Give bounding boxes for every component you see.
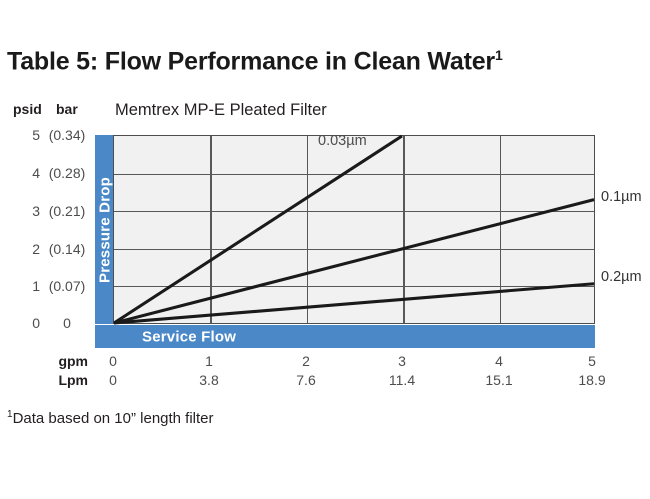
x-tick-lpm-7-6: 7.6 <box>296 372 315 388</box>
series-canvas <box>114 136 594 323</box>
y-tick-bar-021: (0.21) <box>45 203 89 219</box>
x-tick-lpm-15-1: 15.1 <box>485 372 512 388</box>
y-tick-psid-5: 5 <box>14 127 40 143</box>
page-title: Table 5: Flow Performance in Clean Water… <box>7 47 503 76</box>
service-flow-band: Service Flow <box>95 325 595 348</box>
y-tick-psid-0: 0 <box>14 315 40 331</box>
x-unit-label-gpm: gpm <box>38 353 88 369</box>
y-tick-psid-1: 1 <box>14 278 40 294</box>
footnote-text: Data based on 10” length filter <box>13 410 214 427</box>
series-label-0-2um: 0.2µm <box>601 269 642 285</box>
y-tick-psid-3: 3 <box>14 203 40 219</box>
x-unit-label-lpm: Lpm <box>38 372 88 388</box>
x-tick-gpm-1: 1 <box>205 353 213 369</box>
pressure-drop-band-label: Pressure Drop <box>96 177 113 283</box>
x-tick-lpm-18-9: 18.9 <box>578 372 605 388</box>
x-tick-gpm-4: 4 <box>495 353 503 369</box>
page-title-superscript: 1 <box>495 47 503 63</box>
y-tick-bar-0: 0 <box>45 315 89 331</box>
slide-root: Table 5: Flow Performance in Clean Water… <box>0 0 650 499</box>
y-tick-psid-2: 2 <box>14 241 40 257</box>
page-title-text: Table 5: Flow Performance in Clean Water <box>7 47 495 75</box>
plot-area <box>113 135 595 324</box>
y-tick-bar-034: (0.34) <box>45 127 89 143</box>
x-tick-lpm-0: 0 <box>109 372 117 388</box>
series-label-0-03um: 0.03µm <box>318 133 367 149</box>
x-tick-gpm-5: 5 <box>588 353 596 369</box>
y-tick-bar-028: (0.28) <box>45 165 89 181</box>
service-flow-band-label: Service Flow <box>142 328 236 345</box>
x-tick-gpm-3: 3 <box>398 353 406 369</box>
series-line-0-03um <box>114 136 402 323</box>
chart-title: Memtrex MP-E Pleated Filter <box>115 101 327 120</box>
x-tick-gpm-2: 2 <box>302 353 310 369</box>
footnote: 1Data based on 10” length filter <box>7 409 214 427</box>
pressure-drop-band: Pressure Drop <box>95 135 114 324</box>
series-label-0-1um: 0.1µm <box>601 189 642 205</box>
y-tick-psid-4: 4 <box>14 165 40 181</box>
x-tick-lpm-3-8: 3.8 <box>199 372 218 388</box>
x-tick-lpm-11-4: 11.4 <box>389 372 415 388</box>
y-unit-head-psid: psid <box>13 101 42 117</box>
x-tick-gpm-0: 0 <box>109 353 117 369</box>
y-tick-bar-007: (0.07) <box>45 278 89 294</box>
y-unit-head-bar: bar <box>56 101 78 117</box>
y-tick-bar-014: (0.14) <box>45 241 89 257</box>
